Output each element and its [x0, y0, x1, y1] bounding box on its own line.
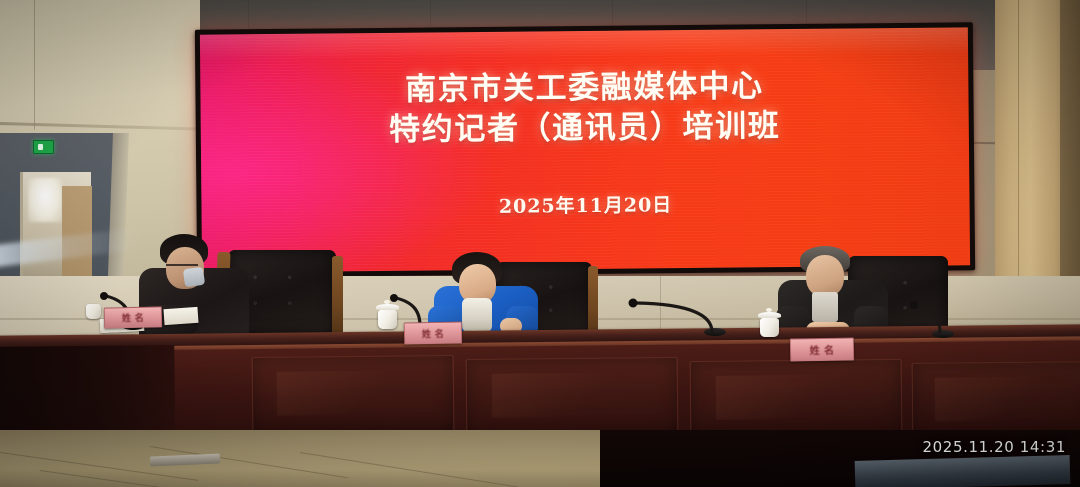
nameplate-center: 姓 名 [404, 321, 462, 344]
wall-seam [34, 0, 35, 130]
person-right-shirt [812, 292, 838, 322]
table-panel [912, 361, 1080, 441]
table-panel [466, 357, 679, 437]
table-panel [690, 359, 903, 439]
person-left-shirt [183, 267, 205, 288]
chair-frame [332, 256, 343, 340]
wall-seam [430, 0, 431, 28]
led-screen-frame: 南京市关工委融媒体中心 特约记者（通讯员）培训班 2025年11月20日 [195, 22, 975, 277]
teacup-lid [376, 304, 399, 310]
led-banner-line2: 特约记者（通讯员）培训班 [201, 105, 969, 152]
teacup-lid [758, 312, 781, 318]
person-center-scarf [462, 298, 492, 332]
led-banner-text: 南京市关工委融媒体中心 特约记者（通讯员）培训班 [200, 65, 969, 152]
wall-seam [248, 0, 249, 30]
led-screen: 南京市关工委融媒体中心 特约记者（通讯员）培训班 2025年11月20日 [200, 27, 970, 272]
wall-seam [612, 0, 613, 26]
screen-glare [200, 27, 968, 60]
nameplate-right: 姓 名 [790, 337, 854, 361]
nameplate-left: 姓 名 [104, 306, 162, 328]
teacup-knob [384, 300, 390, 304]
exit-sign-icon [33, 140, 54, 154]
person-right-head [806, 255, 844, 297]
conference-photo: 南京市关工委融媒体中心 特约记者（通讯员）培训班 2025年11月20日 [0, 0, 1080, 487]
teacup-knob [766, 308, 772, 312]
foreground-object [855, 455, 1071, 487]
camera-timestamp: 2025.11.20 14:31 [923, 438, 1066, 456]
teacup[interactable] [86, 304, 101, 319]
person-left-papers [163, 307, 198, 325]
meeting-room: 南京市关工委融媒体中心 特约记者（通讯员）培训班 2025年11月20日 [0, 0, 1080, 487]
microphone-icon [622, 294, 722, 338]
doorway-light [28, 178, 62, 222]
teacup[interactable] [760, 318, 779, 337]
teacup[interactable] [378, 310, 397, 329]
table-panel [252, 355, 455, 435]
wall-seam [806, 0, 807, 24]
led-banner-date: 2025年11月20日 [201, 187, 969, 221]
microphone-icon [906, 296, 964, 338]
